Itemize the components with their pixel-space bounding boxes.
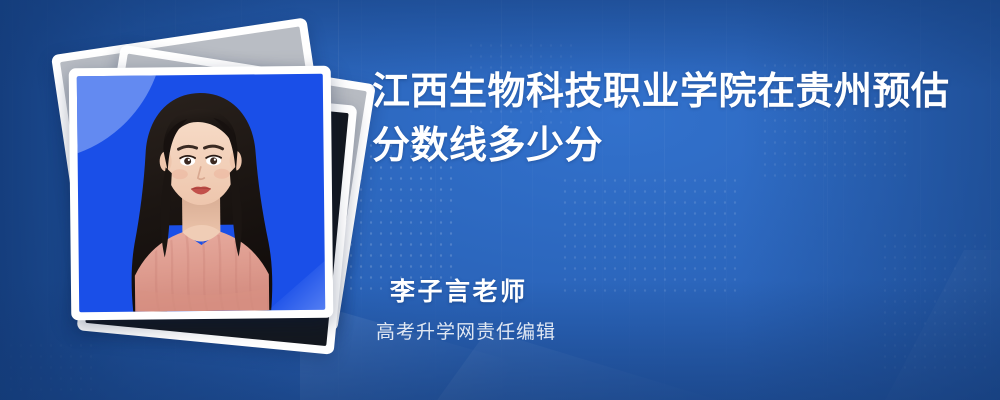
photo-card-front [69, 66, 334, 321]
byline: 李子言老师 高考升学网责任编辑 [390, 272, 950, 344]
portrait-photo [77, 74, 325, 313]
author-name: 李子言老师 [390, 272, 950, 308]
page-title: 江西生物科技职业学院在贵州预估分数线多少分 [372, 66, 972, 174]
author-role: 高考升学网责任编辑 [376, 317, 950, 344]
avatar [77, 74, 325, 313]
headline-container: 江西生物科技职业学院在贵州预估分数线多少分 [372, 66, 972, 174]
photo-card-stack [40, 35, 360, 365]
article-banner: 江西生物科技职业学院在贵州预估分数线多少分 李子言老师 高考升学网责任编辑 [0, 0, 1000, 400]
